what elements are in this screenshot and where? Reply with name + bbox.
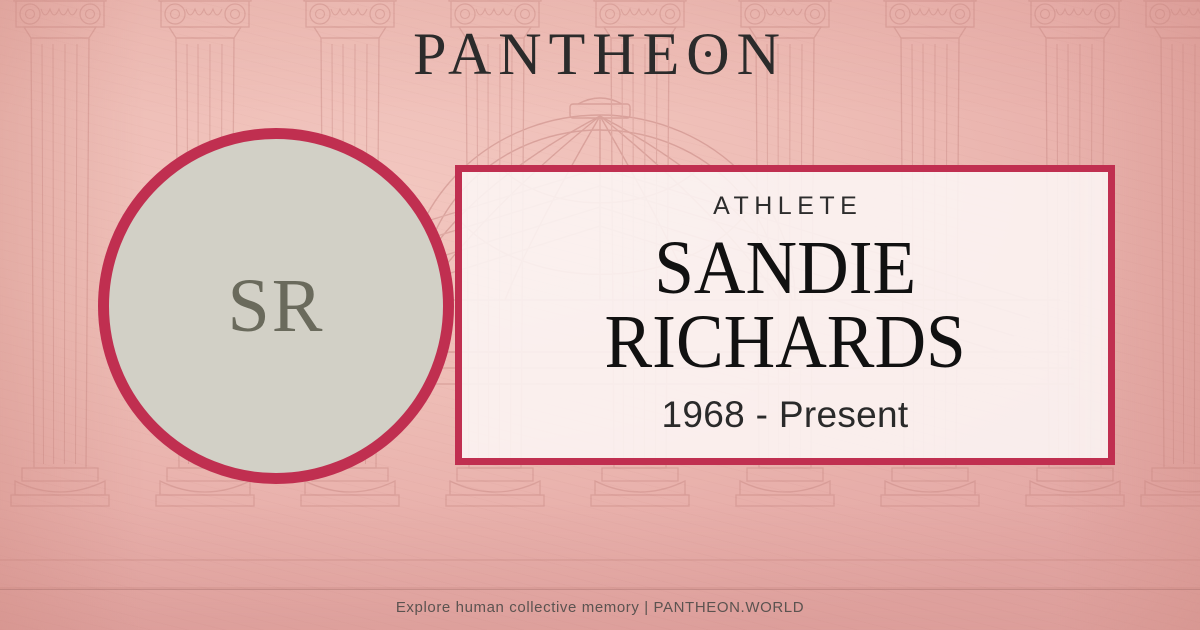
wordmark-letter-o: O [686, 24, 736, 84]
avatar: SR [98, 128, 454, 484]
footer-tagline: Explore human collective memory | PANTHE… [0, 597, 1200, 618]
avatar-initials: SR [228, 268, 325, 344]
footer-divider [0, 589, 1200, 590]
social-card-canvas: PANTHEON ATHLETE SANDIE RICHARDS 1968 - … [0, 0, 1200, 630]
person-name: SANDIE RICHARDS [604, 231, 965, 380]
wordmark-o-glyph: O [686, 21, 736, 87]
occupation-label: ATHLETE [708, 194, 863, 219]
wordmark-part-before: PANTHE [413, 21, 686, 87]
pantheon-wordmark: PANTHEON [0, 24, 1200, 84]
wordmark-part-after: N [737, 21, 787, 87]
life-dates: 1968 - Present [662, 396, 909, 433]
person-info-card: ATHLETE SANDIE RICHARDS 1968 - Present [455, 165, 1115, 465]
